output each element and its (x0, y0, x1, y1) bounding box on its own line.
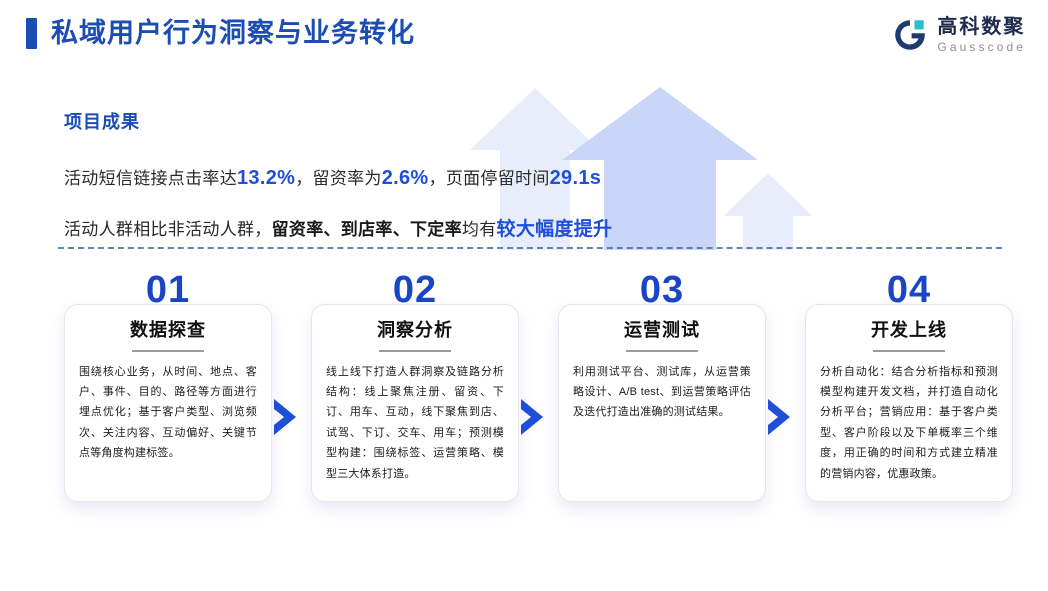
step-card-04[interactable]: 04 开发上线 分析自动化：结合分析指标和预测模型构建开发文档，并打造自动化分析… (805, 272, 1013, 502)
results-heading: 项目成果 (64, 108, 744, 134)
step-number-02: 02 (311, 272, 519, 310)
chevron-right-icon-2 (519, 398, 545, 436)
step-card-body-02[interactable]: 洞察分析 线上线下打造人群洞察及链路分析结构：线上聚焦注册、留资、下订、用车、互… (311, 304, 519, 502)
result-1-value-dwell: 29.1s (550, 167, 602, 189)
step-title-03: 运营测试 (573, 321, 751, 341)
logo-text-group: 高科数聚 Gausscode (937, 17, 1026, 53)
chevron-right-icon-3 (766, 398, 792, 436)
step-rule-04 (873, 350, 945, 352)
step-number-01: 01 (64, 272, 272, 310)
step-description-02: 线上线下打造人群洞察及链路分析结构：线上聚焦注册、留资、下订、用车、互动，线下聚… (326, 362, 504, 484)
page-title: 私域用户行为洞察与业务转化 (51, 20, 415, 47)
result-1-value-ctr: 13.2% (237, 167, 295, 189)
section-divider (58, 247, 1002, 249)
brand-logo: 高科数聚 Gausscode (892, 17, 1026, 53)
step-card-03[interactable]: 03 运营测试 利用测试平台、测试库，从运营策略设计、A/B test、到运营策… (558, 272, 766, 502)
step-title-04: 开发上线 (820, 321, 998, 341)
step-rule-02 (379, 350, 451, 352)
title-accent-bar (26, 18, 37, 49)
page-header: 私域用户行为洞察与业务转化 高科数聚 Gausscode (0, 0, 1048, 78)
result-2-seg1: 活动人群相比非活动人群， (64, 220, 272, 239)
step-card-body-03[interactable]: 运营测试 利用测试平台、测试库，从运营策略设计、A/B test、到运营策略评估… (558, 304, 766, 502)
result-line-2: 活动人群相比非活动人群，留资率、到店率、下定率均有较大幅度提升 (64, 214, 744, 241)
step-rule-01 (132, 350, 204, 352)
logo-mark-icon (892, 17, 928, 53)
result-1-seg2: ，留资率为 (295, 169, 382, 188)
title-group: 私域用户行为洞察与业务转化 (26, 18, 415, 49)
step-title-01: 数据探查 (79, 321, 257, 341)
step-number-04: 04 (805, 272, 1013, 310)
logo-name-en: Gausscode (937, 41, 1026, 53)
result-2-seg2: 均有 (462, 220, 497, 239)
step-card-body-01[interactable]: 数据探查 围绕核心业务，从时间、地点、客户、事件、目的、路径等方面进行埋点优化；… (64, 304, 272, 502)
step-card-01[interactable]: 01 数据探查 围绕核心业务，从时间、地点、客户、事件、目的、路径等方面进行埋点… (64, 272, 272, 502)
process-steps: 01 数据探查 围绕核心业务，从时间、地点、客户、事件、目的、路径等方面进行埋点… (0, 272, 1048, 522)
chevron-right-icon-1 (272, 398, 298, 436)
logo-name-cn: 高科数聚 (937, 17, 1026, 37)
step-description-01: 围绕核心业务，从时间、地点、客户、事件、目的、路径等方面进行埋点优化；基于客户类… (79, 362, 257, 464)
step-card-02[interactable]: 02 洞察分析 线上线下打造人群洞察及链路分析结构：线上聚焦注册、留资、下订、用… (311, 272, 519, 502)
step-rule-03 (626, 350, 698, 352)
project-results-block: 项目成果 活动短信链接点击率达13.2%，留资率为2.6%，页面停留时间29.1… (64, 108, 744, 241)
step-number-03: 03 (558, 272, 766, 310)
result-line-1: 活动短信链接点击率达13.2%，留资率为2.6%，页面停留时间29.1s (64, 164, 744, 190)
step-card-body-04[interactable]: 开发上线 分析自动化：结合分析指标和预测模型构建开发文档，并打造自动化分析平台；… (805, 304, 1013, 502)
result-2-metrics: 留资率、到店率、下定率 (272, 220, 462, 239)
step-description-03: 利用测试平台、测试库，从运营策略设计、A/B test、到运营策略评估及迭代打造… (573, 362, 751, 423)
result-1-seg1: 活动短信链接点击率达 (64, 169, 237, 188)
result-2-highlight: 较大幅度提升 (497, 219, 613, 240)
step-title-02: 洞察分析 (326, 321, 504, 341)
result-1-value-leads: 2.6% (382, 167, 429, 189)
step-description-04: 分析自动化：结合分析指标和预测模型构建开发文档，并打造自动化分析平台；营销应用：… (820, 362, 998, 484)
result-1-seg3: ，页面停留时间 (429, 169, 550, 188)
